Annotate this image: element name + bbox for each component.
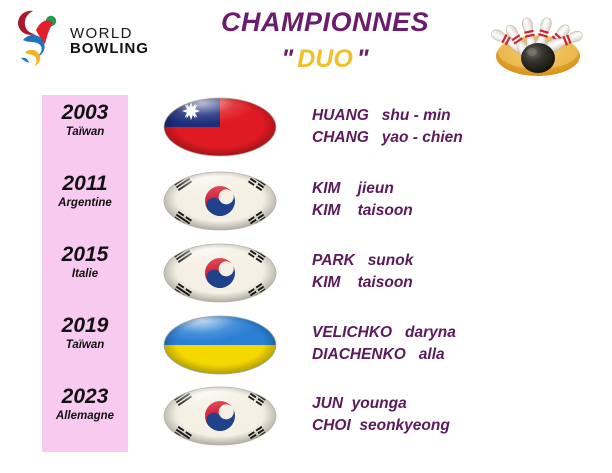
year-cell-2019: 2019 Taïwan (42, 314, 128, 352)
player-name: DIACHENKO alla (312, 344, 592, 366)
player-name: CHOI seonkyeong (312, 415, 592, 437)
country-label: Argentine (42, 197, 128, 210)
flag-slot-2011 (162, 170, 278, 232)
quote-open: " (281, 45, 293, 73)
logo-word-bowling: BOWLING (70, 41, 149, 56)
championnes-duo-slide: WORLD BOWLING CHAMPIONNES "DUO" (0, 0, 612, 473)
subtitle-duo: DUO (293, 45, 357, 73)
flag-slot-2015 (162, 242, 278, 304)
player-name: HUANG shu - min (312, 105, 592, 127)
year-label: 2019 (42, 314, 128, 337)
page-title: CHAMPIONNES (170, 6, 480, 40)
logo-word-world: WORLD (70, 26, 149, 41)
flag-slot-2023 (162, 385, 278, 447)
player-name: CHANG yao - chien (312, 127, 592, 149)
country-label: Italie (42, 268, 128, 281)
year-cell-2003: 2003 Taïwan (42, 101, 128, 139)
flag-slot-2019 (162, 314, 278, 376)
year-label: 2023 (42, 385, 128, 408)
year-label: 2011 (42, 172, 128, 195)
title-block: CHAMPIONNES "DUO" (170, 6, 480, 74)
year-label: 2003 (42, 101, 128, 124)
year-cell-2011: 2011 Argentine (42, 172, 128, 210)
player-name: KIM taisoon (312, 200, 592, 222)
year-country-panel: 2003 Taïwan 2011 Argentine 2015 Italie 2… (42, 95, 128, 452)
names-slot-2019: VELICHKO daryna DIACHENKO alla (312, 322, 592, 367)
player-name: JUN younga (312, 393, 592, 415)
quote-close: " (357, 45, 369, 73)
slide-header: WORLD BOWLING CHAMPIONNES "DUO" (0, 0, 612, 90)
names-slot-2015: PARK sunok KIM taisoon (312, 250, 592, 295)
names-slot-2003: HUANG shu - min CHANG yao - chien (312, 105, 592, 150)
south-korea-flag (162, 170, 278, 232)
south-korea-flag (162, 242, 278, 304)
year-cell-2015: 2015 Italie (42, 243, 128, 281)
world-bowling-logo-text: WORLD BOWLING (70, 26, 149, 56)
flag-slot-2003 (162, 96, 278, 158)
taiwan-flag (162, 96, 278, 158)
south-korea-flag (162, 385, 278, 447)
page-subtitle: "DUO" (170, 44, 480, 74)
year-cell-2023: 2023 Allemagne (42, 385, 128, 423)
world-bowling-logo: WORLD BOWLING (14, 8, 154, 74)
bowling-strike-pins-icon (482, 2, 594, 80)
names-slot-2011: KIM jieun KIM taisoon (312, 178, 592, 223)
player-name: PARK sunok (312, 250, 592, 272)
country-label: Allemagne (42, 410, 128, 423)
player-name: VELICHKO daryna (312, 322, 592, 344)
player-name: KIM jieun (312, 178, 592, 200)
player-name: KIM taisoon (312, 272, 592, 294)
world-bowling-logo-icon (14, 8, 68, 68)
country-label: Taïwan (42, 126, 128, 139)
ukraine-flag (162, 314, 278, 376)
names-slot-2023: JUN younga CHOI seonkyeong (312, 393, 592, 438)
country-label: Taïwan (42, 339, 128, 352)
year-label: 2015 (42, 243, 128, 266)
